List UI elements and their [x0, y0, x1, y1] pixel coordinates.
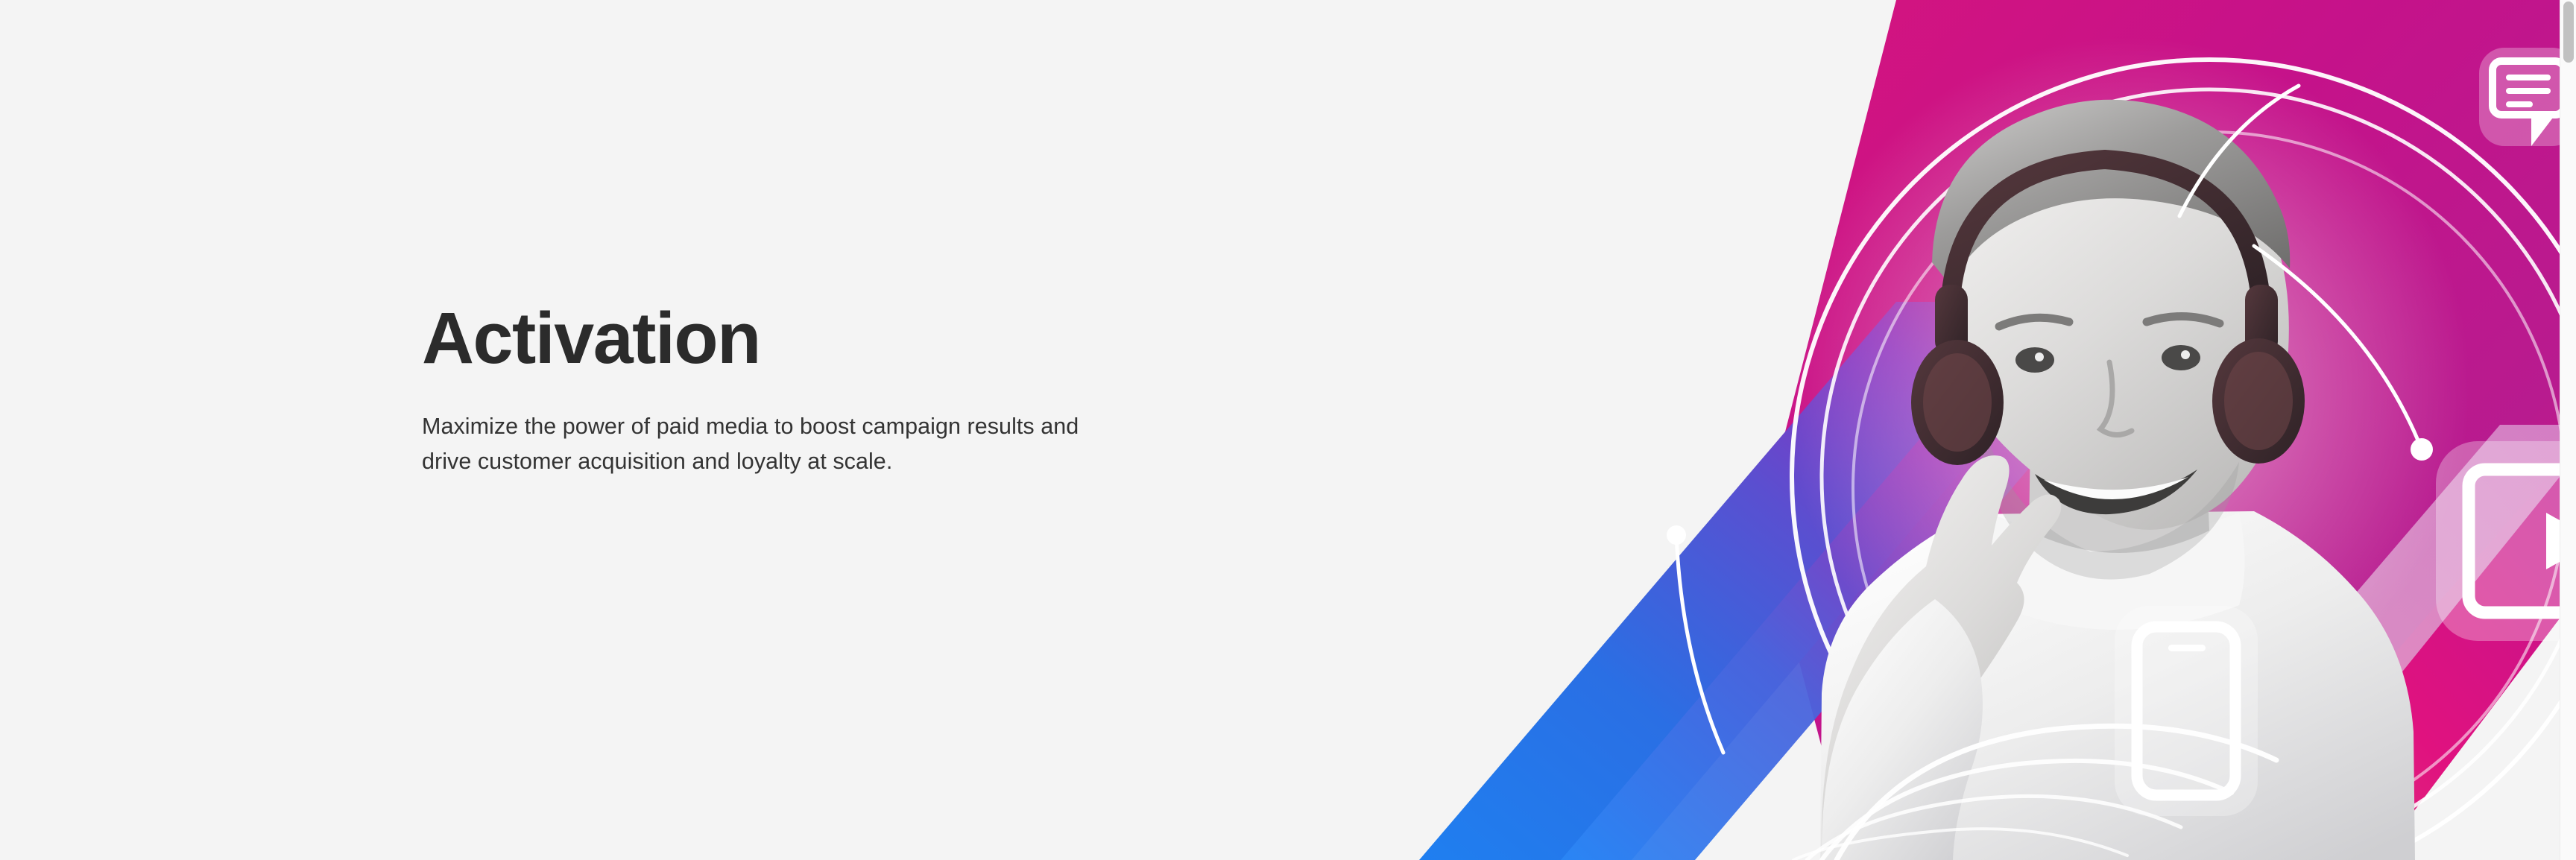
page-title: Activation	[422, 302, 1115, 374]
connector-dot-right	[2411, 438, 2433, 461]
scrollbar-thumb[interactable]	[2563, 1, 2574, 63]
eye-right	[2162, 345, 2200, 370]
chat-line-1	[2506, 75, 2551, 80]
connector-dot-left	[1667, 525, 1686, 545]
page-scrollbar[interactable]	[2560, 0, 2576, 860]
eye-left	[2015, 347, 2054, 373]
hero-artwork	[1374, 0, 2560, 860]
video-player-icon	[2436, 441, 2560, 641]
chat-line-3	[2506, 101, 2533, 107]
hero-banner-page: Activation Maximize the power of paid me…	[0, 0, 2576, 860]
mobile-phone-icon	[2115, 606, 2258, 816]
chat-line-2	[2506, 88, 2551, 94]
chat-bubble-icon	[2479, 48, 2560, 146]
play-triangle	[2546, 513, 2560, 569]
mobile-phone-speaker	[2168, 645, 2206, 651]
hero-copy-block: Activation Maximize the power of paid me…	[422, 302, 1115, 478]
hero-subtitle: Maximize the power of paid media to boos…	[422, 409, 1100, 478]
